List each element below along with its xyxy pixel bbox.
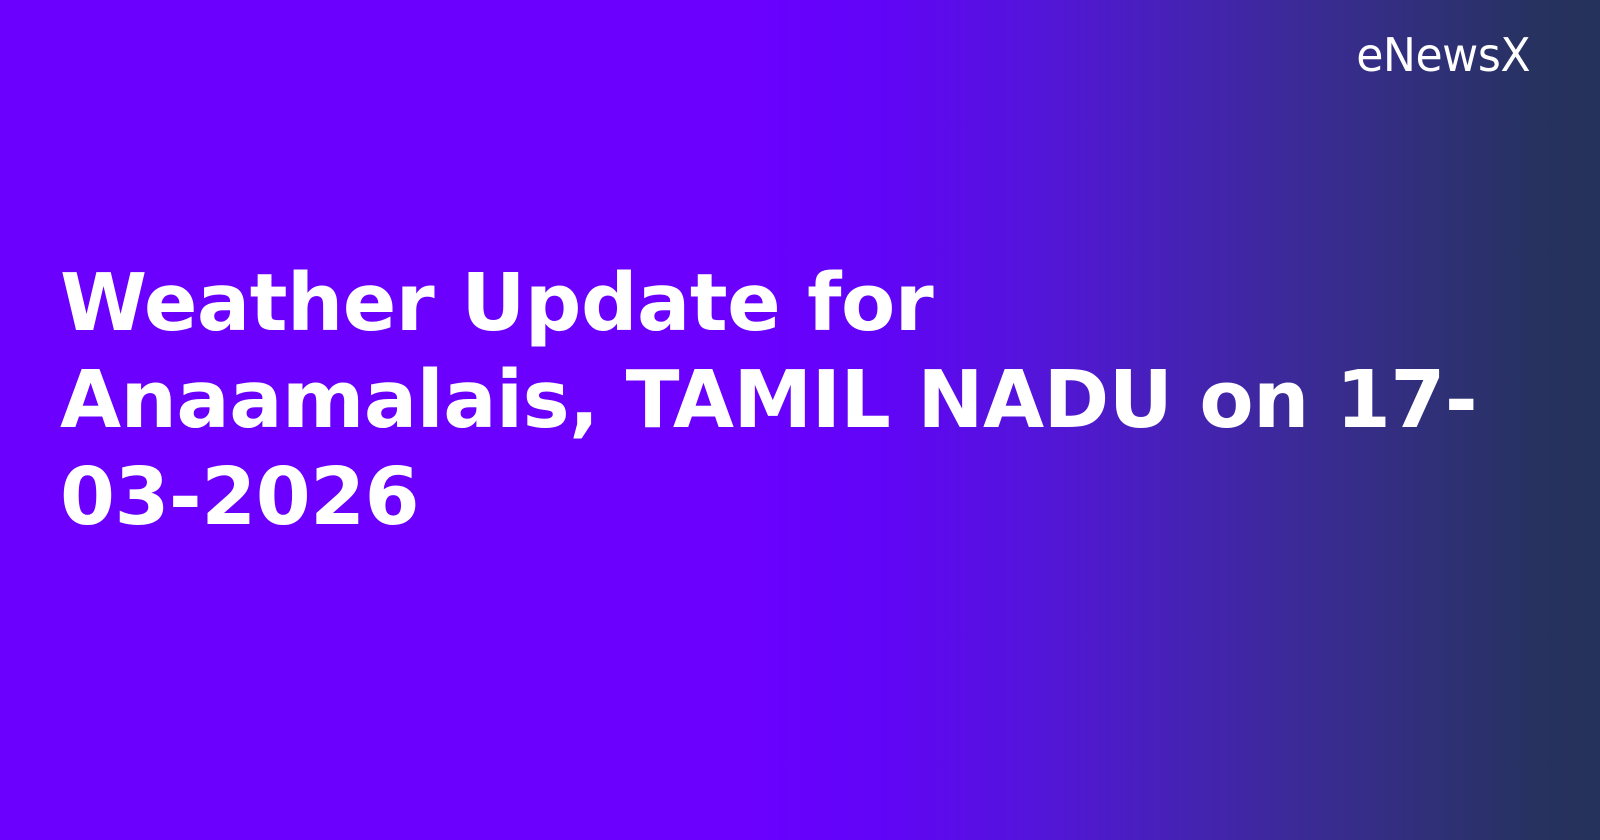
weather-update-banner: eNewsX Weather Update for Anaamalais, TA… [0, 0, 1600, 840]
page-title: Weather Update for Anaamalais, TAMIL NAD… [60, 255, 1480, 546]
headline-block: Weather Update for Anaamalais, TAMIL NAD… [60, 255, 1480, 546]
brand-name: eNewsX [1356, 32, 1530, 78]
brand-logo[interactable]: eNewsX [1349, 32, 1530, 78]
